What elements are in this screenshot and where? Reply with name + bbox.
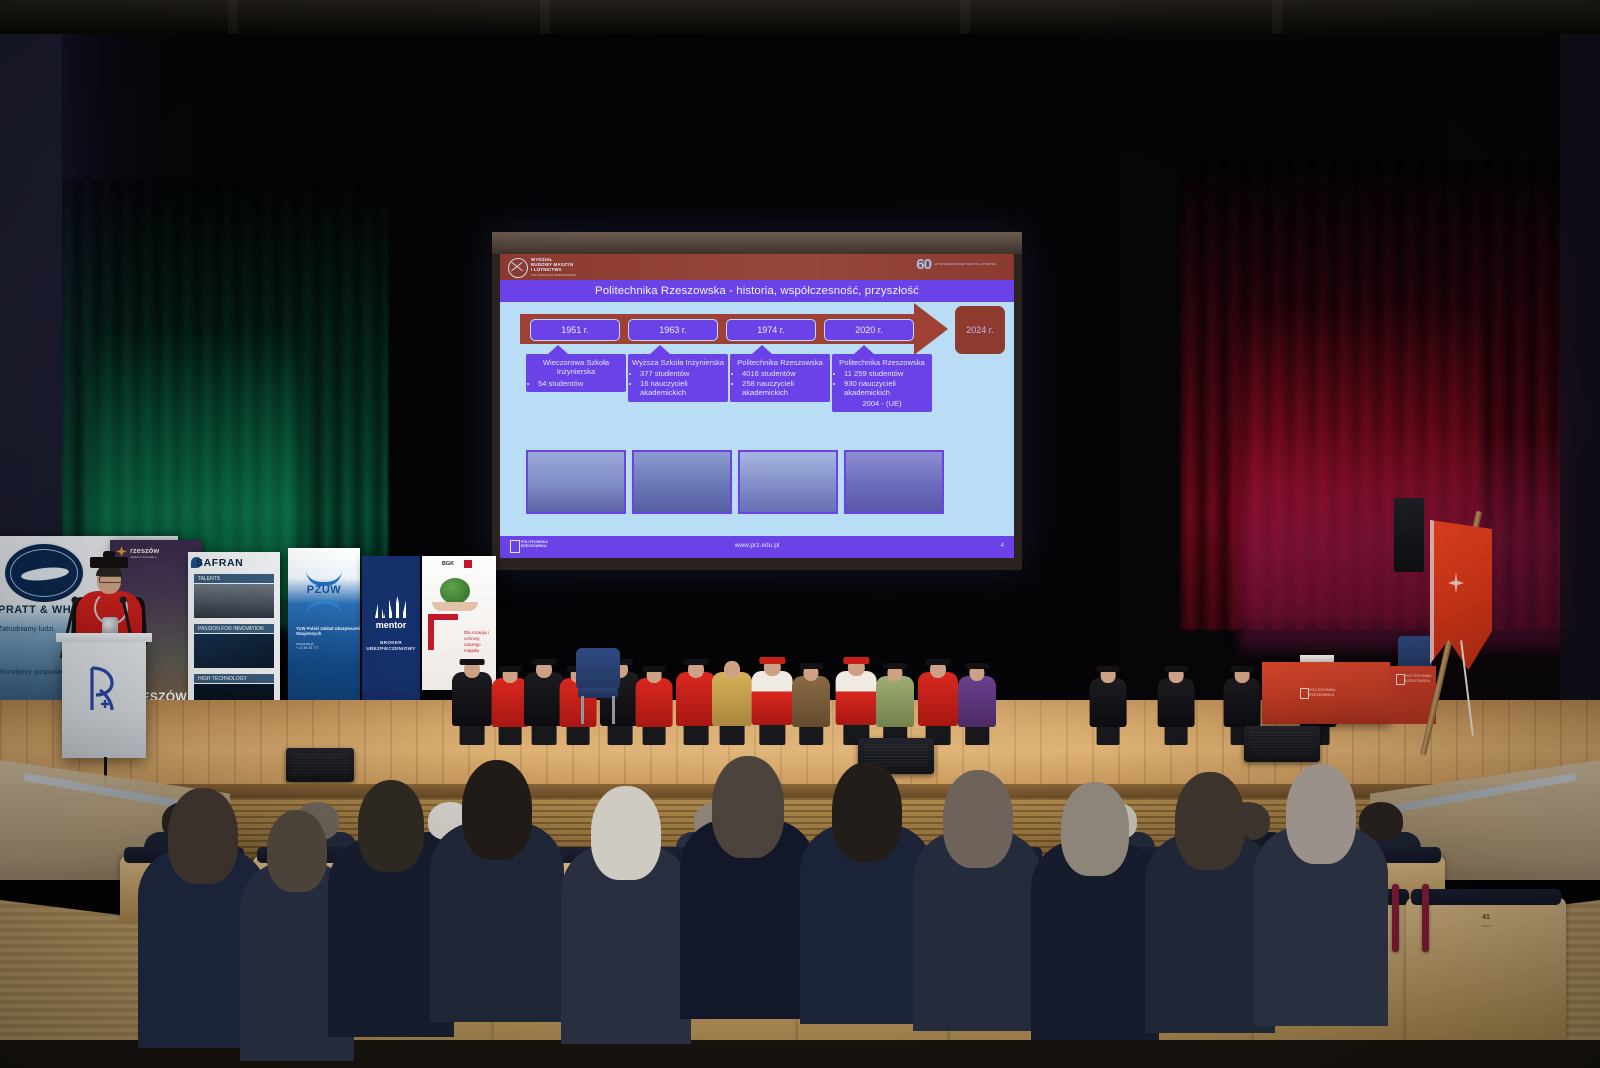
bgk-name: BGK [442, 561, 454, 567]
empty-chair-left [576, 648, 620, 722]
safran-band-2: PASSION FOR INNOVATION [194, 624, 274, 633]
foreground-head [168, 788, 237, 884]
dignitary-figure [792, 654, 830, 745]
academic-cap [684, 659, 709, 666]
graduation-sash [1422, 884, 1429, 952]
academic-cap [883, 663, 907, 669]
pzuw-full-name: TUW Polski Zakład Ubezpieczeń Wzajemnych [296, 626, 360, 637]
dignitary-figure [712, 649, 752, 745]
seat-number: 41 [1406, 914, 1566, 921]
year-label-1: 1951 r. [561, 325, 589, 335]
dignitary-robe [918, 672, 958, 726]
table-logo-side-line-1: POLITECHNIKA [1405, 674, 1431, 679]
bullet-3-1: 4016 studentów [742, 369, 826, 378]
foreground-audience-member [448, 760, 546, 1020]
year-label-2: 1963 r. [659, 325, 687, 335]
bullet-2-2: 16 nauczycieli akademickich [640, 379, 724, 398]
column-heading-3: Politechnika Rzeszowska [732, 358, 828, 367]
year-box-2: 1963 r. [628, 319, 718, 341]
foreground-audience-member [818, 762, 916, 1022]
academic-cap [760, 657, 785, 664]
dignitary-robe [524, 672, 564, 726]
foreground-audience-member [155, 788, 251, 1044]
foreground-audience-member [255, 810, 339, 1052]
dignitary-figure [636, 657, 673, 745]
academic-cap [1097, 666, 1120, 672]
table-logo: POLITECHNIKA RZESZOWSKA [1300, 688, 1335, 697]
safran-band-1: TALENTS [194, 574, 274, 583]
foreground-audience-member [1272, 764, 1370, 1024]
glasses-icon [99, 576, 122, 583]
slide-header-bar: WYDZIAŁ BUDOWY MASZYN I LOTNICTWA POLITE… [500, 254, 1014, 280]
academic-cap [532, 659, 557, 666]
dignitary-figure [452, 649, 492, 745]
rector-biretta-cap [90, 557, 128, 568]
foreground-head [591, 786, 660, 880]
foreground-audience-member [698, 756, 798, 1018]
year-box-3: 1974 r. [726, 319, 816, 341]
dignitary-robe [712, 672, 752, 726]
timeline-column-1: Wieczorowa Szkoła Inżynierska 54 student… [526, 354, 626, 392]
dignitary-figure [524, 649, 564, 745]
academic-cap [643, 666, 666, 672]
table-logo-line-2: RZESZOWSKA [1309, 693, 1335, 698]
dignitary-figure [676, 649, 716, 745]
foreground-head [267, 810, 327, 892]
slide-photo-strip [526, 450, 986, 514]
presentation-slide: WYDZIAŁ BUDOWY MASZYN I LOTNICTWA POLITE… [500, 254, 1014, 558]
year-box-1: 1951 r. [530, 319, 620, 341]
foreground-audience-member [1048, 782, 1142, 1036]
stage-monitor-right [1244, 726, 1320, 762]
bullet-3-2: 258 nauczycieli akademickich [742, 379, 826, 398]
foreground-head [943, 770, 1012, 868]
campus-building-photo [632, 450, 732, 514]
slide-body: 1951 r. 1963 r. 1974 r. 2020 r. 2024 r. … [500, 302, 1014, 536]
bullet-4-2: 930 nauczycieli akademickich [844, 379, 928, 398]
academic-cap [965, 663, 989, 669]
proscenium-header [0, 0, 1600, 34]
dignitary-figure [958, 654, 996, 745]
right-side-wall [1560, 0, 1600, 780]
dignitary-figure [752, 647, 793, 745]
column-extra-4: 2004 - (UE) [834, 399, 930, 408]
foreground-audience-member [345, 780, 437, 1032]
table-logo-line-1: POLITECHNIKA [1309, 688, 1335, 693]
pzuw-contact: tuw.pzuw.pl + 22 58 25 777 [296, 642, 319, 651]
safran-wordmark: SAFRAN [196, 557, 243, 569]
year-box-4: 2020 r. [824, 319, 914, 341]
lectern [62, 640, 146, 758]
foreground-head [712, 756, 784, 858]
projection-screen: WYDZIAŁ BUDOWY MASZYN I LOTNICTWA POLITE… [492, 232, 1022, 570]
timeline-column-3: Politechnika Rzeszowska 4016 studentów 2… [730, 354, 830, 402]
lectern-top [56, 633, 152, 642]
dignitary-robe [836, 671, 877, 726]
final-year-box: 2024 r. [955, 306, 1005, 354]
dignitary-robe [876, 676, 914, 727]
academic-cap [799, 663, 823, 669]
dignitary-robe [676, 672, 716, 726]
pratt-whitney-line-1: Zatrudniamy ludzi. [0, 626, 55, 633]
column-bullets-3: 4016 studentów 258 nauczycieli akademick… [732, 369, 828, 397]
auditorium-photo: WYDZIAŁ BUDOWY MASZYN I LOTNICTWA POLITE… [0, 0, 1600, 1068]
screen-valance [492, 232, 1022, 254]
faculty-roundel-icon [508, 258, 528, 278]
historic-building-photo [526, 450, 626, 514]
dignitary-figure [1158, 657, 1195, 745]
table-logo-side-line-2: RZESZOWSKA [1405, 679, 1431, 684]
anniversary-text: LAT WYDZIAŁU BUDOWY MASZYN I LOTNICTWA [934, 263, 996, 266]
dignitary-robe [1090, 678, 1127, 727]
column-bullets-4: 11 259 studentów 930 nauczycieli akademi… [834, 369, 930, 397]
safran-band-3: HIGH TECHNOLOGY [194, 674, 274, 683]
dignitary-robe [636, 678, 673, 727]
dignitary-robe [792, 676, 830, 727]
prz-monogram-logo [86, 666, 120, 712]
foreground-head [832, 762, 903, 862]
academic-cap [1231, 666, 1254, 672]
dignitary-robe [752, 671, 793, 726]
slide-footer-bar: POLITECHNIKA RZESZOWSKA www.prz.edu.pl 4 [500, 536, 1014, 558]
campus-aerial-photo [844, 450, 944, 514]
pratt-whitney-line-2: Rozwijamy gospodarki. [0, 669, 70, 676]
anniversary-logo: 60 LAT WYDZIAŁU BUDOWY MASZYN I LOTNICTW… [916, 257, 996, 272]
safran-turbine-photo [194, 634, 274, 668]
column-bullets-1: 54 studentów [528, 379, 624, 388]
final-year-label: 2024 r. [966, 325, 994, 335]
pa-speaker-tower [1394, 498, 1424, 572]
slide-title-bar: Politechnika Rzeszowska - historia, wspó… [500, 280, 1014, 302]
bgk-tree-icon [440, 578, 470, 604]
slide-footer-url: www.prz.edu.pl [500, 542, 1014, 549]
dignitary-head [724, 661, 740, 678]
timeline-arrow-head [914, 303, 948, 355]
pzuw-phone: + 22 58 25 777 [296, 646, 319, 650]
bgk-accent-bar-2 [428, 620, 434, 650]
dignitary-robe [1158, 678, 1195, 727]
academic-cap [499, 666, 522, 672]
column-heading-2: Wyższa Szkoła Inżynierska [630, 358, 726, 367]
dignitary-figure [876, 654, 914, 745]
foreground-audience-member [578, 786, 674, 1040]
foreground-head [1286, 764, 1357, 864]
year-label-3: 1974 r. [757, 325, 785, 335]
bullet-1-1: 54 studentów [538, 379, 622, 388]
graduation-sash [1392, 884, 1399, 952]
dignitary-figure [836, 647, 877, 745]
foreground-audience-member [930, 770, 1026, 1028]
mentor-name: mentor [362, 620, 420, 630]
stage-monitor-left [286, 748, 354, 782]
column-heading-1: Wieczorowa Szkoła Inżynierska [528, 358, 624, 377]
academic-cap [460, 659, 485, 666]
academic-cap [1165, 666, 1188, 672]
ceremonial-table: POLITECHNIKA RZESZOWSKA [1262, 662, 1390, 724]
anniversary-number: 60 [916, 257, 931, 272]
bullet-4-1: 11 259 studentów [844, 369, 928, 378]
bgk-square-icon [464, 560, 472, 568]
pzuw-arc-bottom-icon [306, 600, 342, 616]
chair-at-table [1398, 636, 1432, 670]
bullet-2-1: 377 studentów [640, 369, 724, 378]
foreground-head [462, 760, 533, 860]
bgk-hand-icon [432, 602, 478, 611]
year-label-4: 2020 r. [855, 325, 883, 335]
academic-cap [926, 659, 951, 666]
academic-cap [844, 657, 869, 664]
column-bullets-2: 377 studentów 16 nauczycieli akademickic… [630, 369, 726, 397]
column-heading-4: Politechnika Rzeszowska [834, 358, 930, 367]
timeline-column-2: Wyższa Szkoła Inżynierska 377 studentów … [628, 354, 728, 402]
timeline-column-4: Politechnika Rzeszowska 11 259 studentów… [832, 354, 932, 412]
foreground-head [1061, 782, 1129, 876]
safran-team-photo [194, 584, 274, 618]
seat-headrest [1411, 889, 1561, 905]
slide-title: Politechnika Rzeszowska - historia, wspó… [595, 285, 919, 297]
foreground-audience-member [1162, 772, 1258, 1030]
dignitary-figure [918, 649, 958, 745]
mentor-crown-icon [375, 596, 407, 618]
foreground-head [1175, 772, 1244, 870]
pzuw-name: PZUW [288, 584, 360, 596]
dignitary-robe [958, 676, 996, 727]
dignitary-robe [452, 672, 492, 726]
faculty-sub: POLITECHNIKA RZESZOWSKA [531, 273, 576, 278]
table-logo-side: POLITECHNIKA RZESZOWSKA [1396, 674, 1431, 683]
mentor-subtitle: BROKER UBEZPIECZENIOWY [362, 640, 420, 652]
faculty-name: WYDZIAŁ BUDOWY MASZYN I LOTNICTWA POLITE… [531, 258, 576, 278]
dignitary-robe [1224, 678, 1261, 727]
slide-page-number: 4 [1000, 542, 1004, 549]
seat-row-label: RZĘDU [1406, 925, 1566, 928]
faculty-building-photo [738, 450, 838, 514]
foreground-head [358, 780, 424, 872]
dignitary-figure [1090, 657, 1127, 745]
